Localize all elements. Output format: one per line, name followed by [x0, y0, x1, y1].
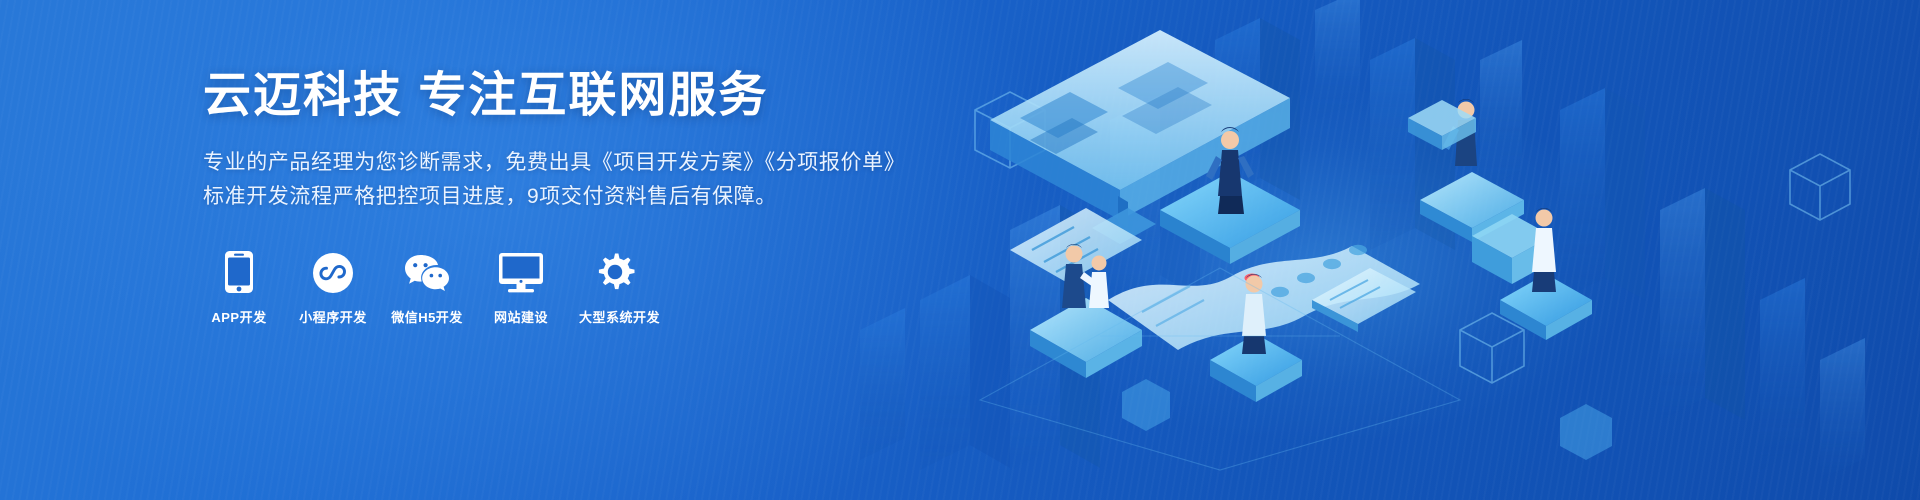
service-item-app[interactable]: APP开发: [203, 248, 275, 326]
isometric-illustration: [860, 0, 1920, 500]
subtitle-line-1: 专业的产品经理为您诊断需求，免费出具《项目开发方案》《分项报价单》: [203, 146, 903, 180]
wechat-icon: [391, 248, 463, 294]
service-list: APP开发 小程序开发: [203, 248, 903, 326]
illustration-svg: [860, 0, 1920, 500]
mini-program-icon: [297, 248, 369, 294]
banner-content: 云迈科技 专注互联网服务 专业的产品经理为您诊断需求，免费出具《项目开发方案》《…: [203, 68, 903, 326]
service-label: 网站建设: [485, 307, 557, 326]
hero-banner: 云迈科技 专注互联网服务 专业的产品经理为您诊断需求，免费出具《项目开发方案》《…: [0, 0, 1920, 500]
mobile-phone-icon: [203, 248, 275, 294]
service-label: 大型系统开发: [579, 307, 651, 326]
service-label: 微信H5开发: [391, 307, 463, 326]
monitor-icon: [485, 248, 557, 294]
service-item-wechat[interactable]: 微信H5开发: [391, 248, 463, 326]
service-item-miniprogram[interactable]: 小程序开发: [297, 248, 369, 326]
gear-icon: [579, 248, 651, 294]
subtitle-line-2: 标准开发流程严格把控项目进度，9项交付资料售后有保障。: [203, 180, 903, 214]
service-item-website[interactable]: 网站建设: [485, 248, 557, 326]
service-label: APP开发: [203, 307, 275, 326]
page-title: 云迈科技 专注互联网服务: [203, 68, 903, 124]
service-item-system[interactable]: 大型系统开发: [579, 248, 651, 326]
service-label: 小程序开发: [297, 307, 369, 326]
banner-subtitle: 专业的产品经理为您诊断需求，免费出具《项目开发方案》《分项报价单》 标准开发流程…: [203, 146, 903, 214]
